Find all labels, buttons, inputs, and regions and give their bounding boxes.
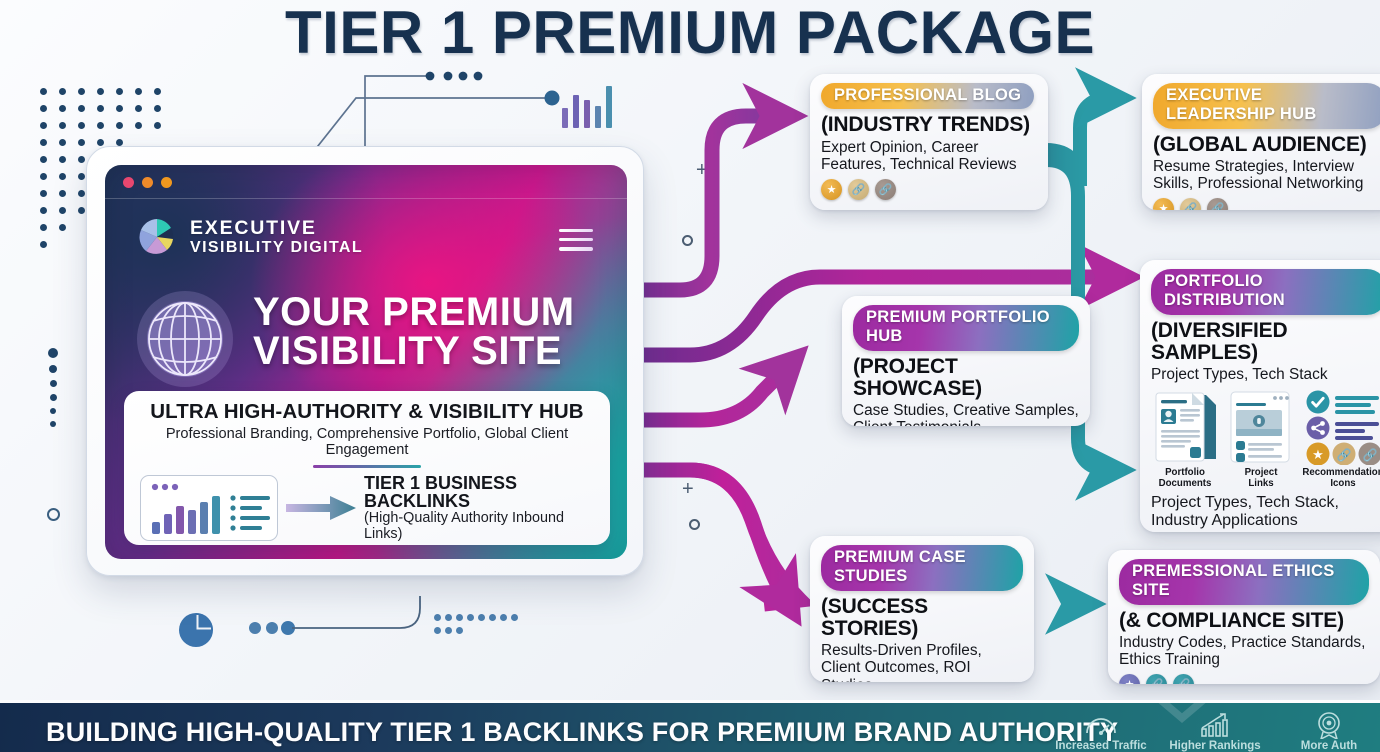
badge-premessional-ethics-site: PREMESSIONAL ETHICS SITE [1119, 559, 1369, 605]
decor-dot [50, 421, 56, 427]
close-dot-red[interactable] [123, 177, 134, 188]
authority-badge-icon [1312, 711, 1346, 739]
metric-caption: Increased Traffic [1055, 740, 1146, 752]
decor-dot [97, 88, 104, 95]
decor-dot [116, 122, 123, 129]
hamburger-menu-icon[interactable] [559, 229, 593, 257]
link-icon[interactable]: 🔗 [1207, 198, 1228, 210]
decor-pie-chart-bottom [178, 612, 214, 648]
bar-chart-list-icon [140, 475, 278, 541]
decor-dot [59, 207, 66, 214]
decor-dot [78, 156, 85, 163]
decor-dot [40, 139, 47, 146]
decor-dot [59, 190, 66, 197]
card-premessional-ethics-site[interactable]: PREMESSIONAL ETHICS SITE (& COMPLIANCE S… [1108, 550, 1380, 684]
decor-dot [49, 365, 57, 373]
decor-dot [97, 139, 104, 146]
decor-ring-mark-upper [682, 235, 693, 246]
globe-icon [133, 287, 237, 391]
svg-text:★: ★ [1312, 447, 1324, 462]
decor-dot [154, 105, 161, 112]
decor-dot [434, 614, 441, 621]
thumb-recommendation-icons[interactable]: ★ 🔗 🔗 Recommendation Icons [1303, 389, 1380, 489]
card-heading: (GLOBAL AUDIENCE) [1153, 134, 1380, 156]
thumb-caption: Recommendation Icons [1302, 468, 1380, 489]
badge-list-icon: ★ 🔗 🔗 [1304, 389, 1380, 465]
decor-plus-mark-upper: + [696, 160, 708, 180]
thumb-portfolio-documents[interactable]: Portfolio Documents [1151, 389, 1219, 489]
browser-window-icon [1228, 389, 1294, 465]
hero-line-1: YOUR PREMIUM [253, 293, 575, 332]
brand-line-1: EXECUTIVE [190, 218, 363, 239]
decor-dot [78, 122, 85, 129]
minimize-dot-orange[interactable] [142, 177, 153, 188]
authority-hub-title: ULTRA HIGH-AUTHORITY & VISIBILITY HUB [134, 400, 600, 424]
card-body: Expert Opinion, Career Features, Technic… [821, 139, 1037, 174]
metric-caption: More Auth [1301, 740, 1357, 752]
banner-metrics: Increased Traffic Higher Rankings [1058, 711, 1372, 752]
card-heading: (SUCCESS STORIES) [821, 596, 1023, 640]
decor-bar [573, 95, 579, 128]
decor-dot [456, 614, 463, 621]
hero-headline: YOUR PREMIUM VISIBILITY SITE [253, 293, 575, 371]
decor-dot [445, 627, 452, 634]
decor-dot [135, 122, 142, 129]
decor-dot [40, 173, 47, 180]
decor-dot-column-left [46, 348, 72, 438]
decor-dot [154, 122, 161, 129]
decor-dot [59, 139, 66, 146]
decor-dot [478, 614, 485, 621]
decor-dot [59, 105, 66, 112]
decor-dot [40, 122, 47, 129]
decor-dot [467, 614, 474, 621]
card-heading: (PROJECT SHOWCASE) [853, 356, 1079, 400]
decor-connector-lines-bottom [248, 596, 578, 666]
metric-more-authority: More Auth [1286, 711, 1372, 752]
decor-dot [154, 88, 161, 95]
decor-dot [59, 224, 66, 231]
browser-titlebar [105, 165, 627, 199]
badge-portfolio-distribution: PORTFOLIO DISTRIBUTION [1151, 269, 1380, 315]
decor-dot [40, 156, 47, 163]
decor-dot [116, 105, 123, 112]
svg-text:🔗: 🔗 [1363, 447, 1378, 462]
decor-dot [135, 105, 142, 112]
browser-mockup-frame: EXECUTIVE VISIBILITY DIGITAL [86, 146, 644, 576]
link-icon[interactable]: 🔗 [848, 179, 869, 200]
link-icon[interactable]: 🔗 [1180, 198, 1201, 210]
decor-minibar-chart-top [562, 82, 618, 128]
authority-hub-subtitle: Professional Branding, Comprehensive Por… [134, 426, 600, 458]
decor-ring-mark-lower [689, 519, 700, 530]
decor-bar [562, 108, 568, 128]
card-body: Resume Strategies, Interview Skills, Pro… [1153, 158, 1380, 193]
card-body: Case Studies, Creative Samples, Client T… [853, 402, 1079, 426]
decor-plus-mark-lower: + [682, 479, 694, 499]
thumb-caption: Project Links [1245, 468, 1278, 489]
decor-dots-connector-bottom [248, 596, 578, 666]
infographic-canvas: TIER 1 PREMIUM PACKAGE + + [0, 0, 1380, 752]
card-portfolio-distribution[interactable]: PORTFOLIO DISTRIBUTION (DIVERSIFIED SAMP… [1140, 260, 1380, 532]
link-icon[interactable]: 🔗 [1146, 674, 1167, 684]
star-icon[interactable]: ★ [821, 179, 842, 200]
decor-dot [500, 614, 507, 621]
decor-bar [606, 86, 612, 128]
badge-line-1: PREMIUM CASE [834, 548, 966, 566]
decor-dot [40, 241, 47, 248]
decor-dot [489, 614, 496, 621]
decor-dot [40, 207, 47, 214]
decor-dot [59, 173, 66, 180]
star-icon[interactable]: ★ [1153, 198, 1174, 210]
speedometer-icon [1084, 711, 1118, 739]
card-premium-case-studies[interactable]: PREMIUM CASE STUDIES (SUCCESS STORIES) R… [810, 536, 1034, 682]
metric-caption: Higher Rankings [1169, 740, 1260, 752]
card-heading: (DIVERSIFIED SAMPLES) [1151, 320, 1380, 364]
decor-dot [116, 139, 123, 146]
card-premium-portfolio-hub[interactable]: PREMIUM PORTFOLIO HUB (PROJECT SHOWCASE)… [842, 296, 1090, 426]
decor-dot [48, 348, 58, 358]
brand-line-2: VISIBILITY DIGITAL [190, 239, 363, 256]
link-icon[interactable]: 🔗 [1173, 674, 1194, 684]
bottom-banner: BUILDING HIGH-QUALITY TIER 1 BACKLINKS F… [0, 700, 1380, 752]
card-body: Industry Codes, Practice Standards, Ethi… [1119, 634, 1369, 669]
authority-hub-card: ULTRA HIGH-AUTHORITY & VISIBILITY HUB Pr… [124, 391, 610, 545]
decor-dot [78, 88, 85, 95]
maximize-dot-amber[interactable] [161, 177, 172, 188]
decor-dot [97, 122, 104, 129]
chip-row: ★ 🔗 🔗 [821, 179, 1037, 200]
card-professional-blog[interactable]: PROFESSIONAL BLOG (INDUSTRY TRENDS) Expe… [810, 74, 1048, 210]
card-footer-text: Project Types, Tech Stack, Industry Appl… [1151, 494, 1380, 530]
decor-dot-grid-bottom [434, 614, 520, 640]
growth-chart-icon [1198, 711, 1232, 739]
decor-dot [40, 105, 47, 112]
metric-higher-rankings: Higher Rankings [1172, 711, 1258, 752]
decor-dot [135, 88, 142, 95]
badge-professional-blog: PROFESSIONAL BLOG [821, 83, 1034, 109]
metric-increased-traffic: Increased Traffic [1058, 711, 1144, 752]
decor-dot [40, 88, 47, 95]
chip-row: ★ 🔗 🔗 [1119, 674, 1369, 684]
decor-bar [584, 100, 590, 128]
decor-dot [50, 408, 56, 414]
decor-dot [50, 394, 57, 401]
decor-dot [456, 627, 463, 634]
card-body: Project Types, Tech Stack [1151, 366, 1380, 383]
badge-executive-leadership-hub: EXECUTIVE LEADERSHIP HUB [1153, 83, 1380, 129]
backlinks-text: TIER 1 BUSINESS BACKLINKS (High-Quality … [364, 474, 600, 543]
decor-dot [59, 122, 66, 129]
decor-dot [78, 139, 85, 146]
browser-viewport: EXECUTIVE VISIBILITY DIGITAL [105, 165, 627, 559]
svg-text:🔗: 🔗 [1337, 447, 1352, 462]
backlinks-subtitle: (High-Quality Authority Inbound Links) [364, 511, 600, 543]
badge-premium-portfolio-hub: PREMIUM PORTFOLIO HUB [853, 305, 1079, 351]
decor-bar [595, 106, 601, 128]
decor-dot [78, 173, 85, 180]
chip-row: ★ 🔗 🔗 [1153, 198, 1380, 210]
link-icon[interactable]: 🔗 [875, 179, 896, 200]
decor-dot [78, 207, 85, 214]
card-executive-leadership-hub[interactable]: EXECUTIVE LEADERSHIP HUB (GLOBAL AUDIENC… [1142, 74, 1380, 210]
pie-chart-icon [178, 612, 214, 648]
decor-dot [78, 105, 85, 112]
decor-dot [59, 88, 66, 95]
thumb-project-links[interactable]: Project Links [1227, 389, 1295, 489]
card-body: Results-Driven Profiles, Client Outcomes… [821, 642, 1023, 682]
thumb-caption: Portfolio Documents [1159, 468, 1212, 489]
backlinks-title: TIER 1 BUSINESS BACKLINKS [364, 474, 600, 512]
divider [313, 465, 421, 468]
card-heading: (INDUSTRY TRENDS) [821, 114, 1037, 136]
decor-dot [97, 105, 104, 112]
pie-chart-logo-icon [137, 217, 177, 257]
badge-premium-case-studies: PREMIUM CASE STUDIES [821, 545, 1023, 591]
decor-dot [59, 156, 66, 163]
decor-dot [434, 627, 441, 634]
decor-dot [445, 614, 452, 621]
page-title: TIER 1 PREMIUM PACKAGE [0, 0, 1380, 67]
decor-dot [78, 190, 85, 197]
decor-dot [50, 380, 57, 387]
decor-dot [40, 190, 47, 197]
decor-dot [116, 88, 123, 95]
card-heading: (& COMPLIANCE SITE) [1119, 610, 1369, 632]
site-brand: EXECUTIVE VISIBILITY DIGITAL [137, 217, 363, 257]
decor-dot [511, 614, 518, 621]
star-icon[interactable]: ★ [1119, 674, 1140, 684]
right-arrow-icon [284, 495, 358, 521]
document-pages-icon [1152, 389, 1218, 465]
hero-line-2: VISIBILITY SITE [253, 332, 575, 371]
decor-dot [40, 224, 47, 231]
decor-ring-left [47, 508, 60, 521]
badge-line-2: STUDIES [834, 567, 908, 585]
brand-text: EXECUTIVE VISIBILITY DIGITAL [190, 218, 363, 256]
backlinks-row: TIER 1 BUSINESS BACKLINKS (High-Quality … [134, 474, 600, 543]
banner-headline: BUILDING HIGH-QUALITY TIER 1 BACKLINKS F… [46, 717, 1118, 748]
thumbnail-row: Portfolio Documents [1151, 389, 1380, 489]
